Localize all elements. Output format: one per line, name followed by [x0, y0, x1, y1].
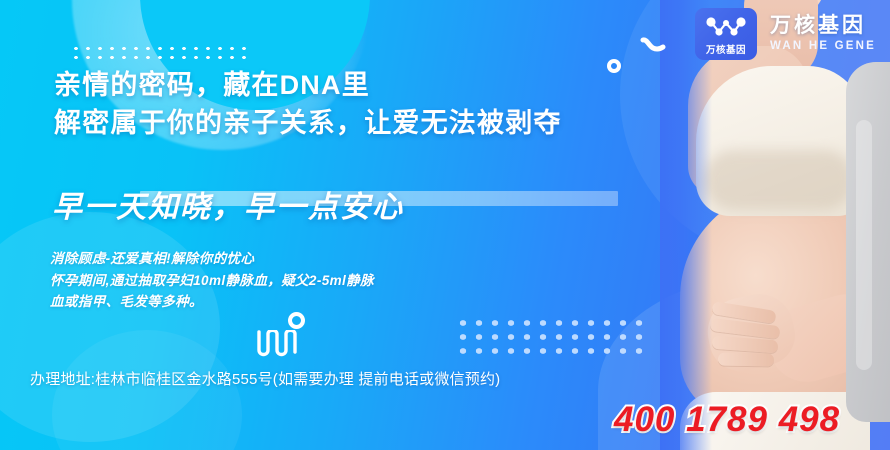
circle-ring-icon	[288, 312, 305, 329]
address-text: 办理地址:桂林市临桂区金水路555号(如需要办理 提前电话或微信预约)	[30, 368, 500, 389]
photo-edge-fade	[660, 0, 712, 450]
headline-line-1: 亲情的密码，藏在DNA里	[54, 66, 654, 104]
dotted-line-icon	[70, 44, 248, 60]
promo-banner: 亲情的密码，藏在DNA里 解密属于你的亲子关系，让爱无法被剥夺 早一天知晓，早一…	[0, 0, 890, 450]
brand-logo[interactable]: 万核基因 万核基因 WAN HE GENE	[695, 8, 876, 60]
photo-cardigan-fold	[856, 120, 872, 370]
body-line-2: 怀孕期间,通过抽取孕妇10ml静脉血，疑父2-5ml静脉	[50, 270, 480, 292]
pregnant-woman-photo	[660, 0, 890, 450]
body-copy: 消除顾虑-还爱真相!解除你的忧心 怀孕期间,通过抽取孕妇10ml静脉血，疑父2-…	[50, 248, 480, 313]
page-title: 亲情的密码，藏在DNA里 解密属于你的亲子关系，让爱无法被剥夺	[54, 66, 654, 143]
logo-name-en: WAN HE GENE	[770, 41, 876, 53]
wave-squiggle-icon	[255, 330, 303, 365]
dna-molecule-icon	[703, 14, 749, 44]
logo-name-cn: 万核基因	[770, 15, 876, 36]
logo-mark: 万核基因	[695, 8, 757, 60]
subheadline-block: 早一天知晓，早一点安心	[52, 186, 612, 234]
subheadline-text: 早一天知晓，早一点安心	[52, 186, 404, 230]
photo-finger	[718, 353, 774, 367]
body-line-3: 血或指甲、毛发等多种。	[50, 291, 480, 313]
logo-text: 万核基因 WAN HE GENE	[770, 15, 876, 53]
headline-line-2: 解密属于你的亲子关系，让爱无法被剥夺	[54, 104, 654, 142]
phone-number[interactable]: 400 1789 498	[614, 400, 840, 440]
dot-grid-icon	[455, 316, 645, 354]
small-wave-icon	[640, 36, 666, 63]
photo-top-shadow	[704, 150, 854, 210]
body-line-1: 消除顾虑-还爱真相!解除你的忧心	[50, 248, 480, 270]
logo-mark-label: 万核基因	[695, 42, 757, 56]
